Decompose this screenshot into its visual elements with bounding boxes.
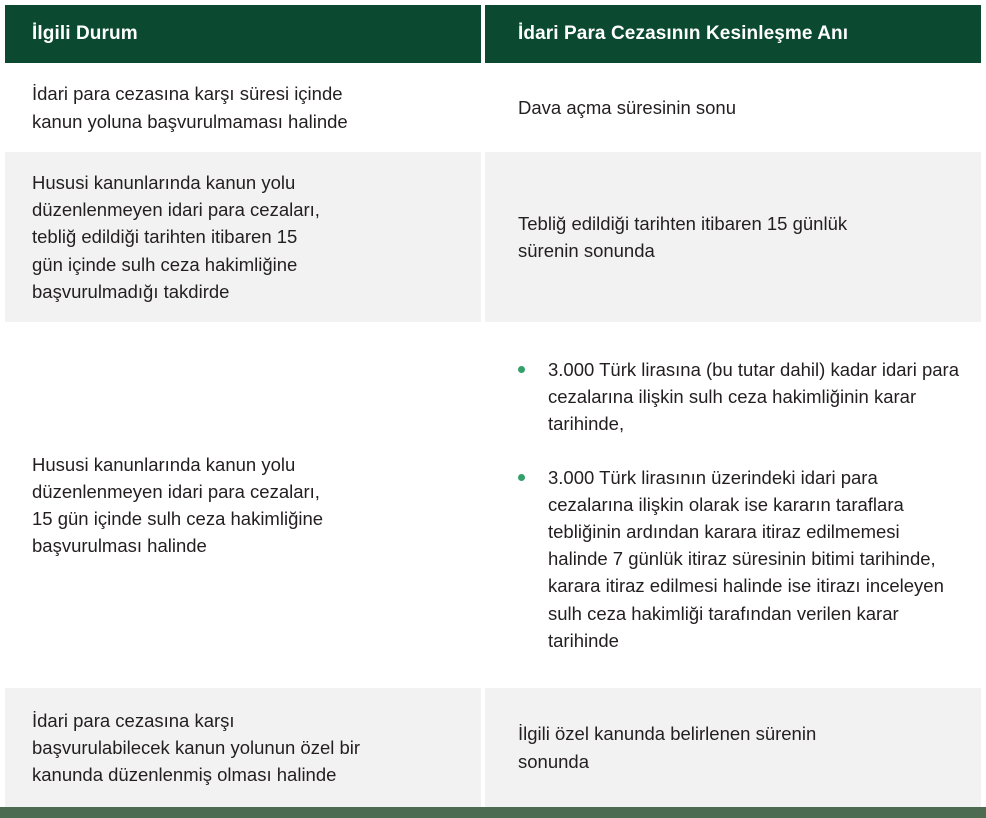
moment-bullet-list: 3.000 Türk lirasına (bu tutar dahil) kad… [518,356,963,654]
table-cell-situation: İdari para cezasına karşı süresi içinde … [5,63,481,152]
table-cell-situation: İdari para cezasına karşı başvurulabilec… [5,688,481,807]
situation-text: Hususi kanunlarında kanun yolu düzenlenm… [32,451,457,560]
situation-text: İdari para cezasına karşı süresi içinde … [32,80,457,134]
table-cell-situation: Hususi kanunlarında kanun yolu düzenlenm… [5,152,481,322]
table-cell-situation: Hususi kanunlarında kanun yolu düzenlenm… [5,322,481,688]
list-item: 3.000 Türk lirasının üzerindeki idari pa… [518,464,963,654]
table-header-cell-moment: İdari Para Cezasının Kesinleşme Anı [485,5,981,63]
footer-accent-bar [0,807,986,818]
table-row: İdari para cezasına karşı başvurulabilec… [5,688,981,807]
moment-text: Tebliğ edildiği tarihten itibaren 15 gün… [518,210,963,264]
moment-text: İlgili özel kanunda belirlenen sürenin s… [518,720,963,774]
table-row: İdari para cezasına karşı süresi içinde … [5,63,981,152]
list-item-label: 3.000 Türk lirasına (bu tutar dahil) kad… [548,359,959,434]
table-header-row: İlgili Durum İdari Para Cezasının Kesinl… [5,5,981,63]
table-header-cell-situation: İlgili Durum [5,5,481,63]
table-cell-moment: İlgili özel kanunda belirlenen sürenin s… [485,688,981,807]
table-cell-moment: Tebliğ edildiği tarihten itibaren 15 gün… [485,152,981,322]
moment-text: Dava açma süresinin sonu [518,94,963,121]
table-row: Hususi kanunlarında kanun yolu düzenlenm… [5,322,981,688]
table-row: Hususi kanunlarında kanun yolu düzenlenm… [5,152,981,322]
situation-text: İdari para cezasına karşı başvurulabilec… [32,707,457,789]
table-cell-moment: Dava açma süresinin sonu [485,63,981,152]
situation-text: Hususi kanunlarında kanun yolu düzenlenm… [32,169,457,305]
table-header-label-moment: İdari Para Cezasının Kesinleşme Anı [518,23,848,46]
table-cell-moment: 3.000 Türk lirasına (bu tutar dahil) kad… [485,322,981,688]
list-item: 3.000 Türk lirasına (bu tutar dahil) kad… [518,356,963,438]
bullet-dot-icon [518,474,525,481]
table-header-label-situation: İlgili Durum [32,23,138,46]
penalty-finalization-table: İlgili Durum İdari Para Cezasının Kesinl… [0,0,986,818]
bullet-dot-icon [518,366,525,373]
list-item-label: 3.000 Türk lirasının üzerindeki idari pa… [548,467,944,651]
